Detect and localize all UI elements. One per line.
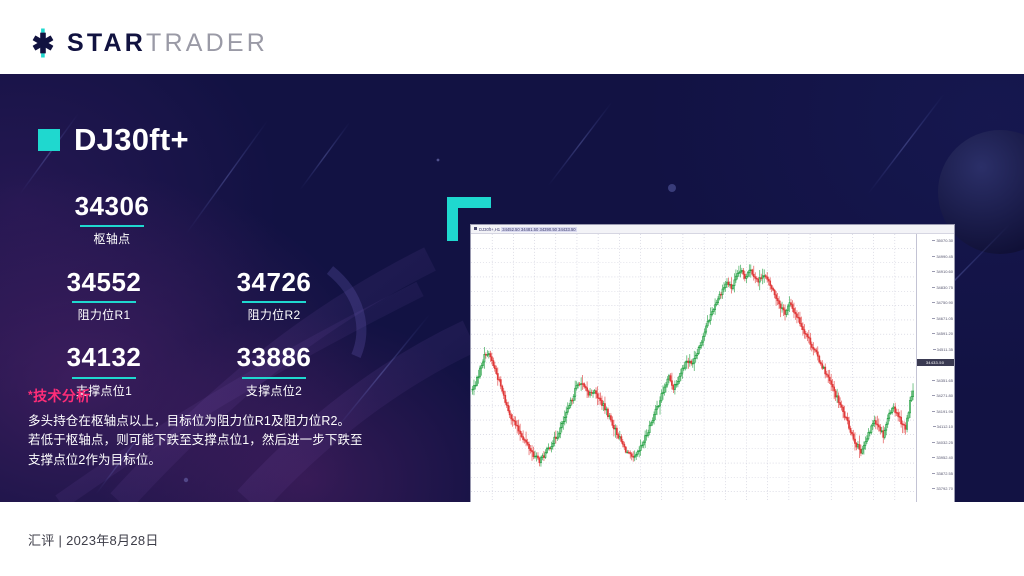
brand-name-light: TRADER [146,29,268,57]
level-r2-value: 34726 [237,269,312,299]
brand-name-bold: STAR [67,29,146,57]
price-tick: 33792.70 [936,486,953,491]
level-r1-label: 阻力位R1 [38,308,170,322]
price-tick: 34750.90 [936,300,953,305]
footer-caption: 汇评 | 2023年8月28日 [28,530,159,549]
main-stage: DJ30ft+ 34306 枢轴点 34552 阻力位R1 34726 [0,74,1024,502]
analysis-line-1: 多头持仓在枢轴点以上，目标位为阻力位R1及阻力位R2。 [28,412,428,431]
instrument-info: DJ30ft+ 34306 枢轴点 34552 阻力位R1 34726 [38,124,418,398]
level-r2: 34726 阻力位R2 [208,269,340,323]
chart-window-icon [474,227,477,230]
current-price-label: 34433.50 [916,359,954,366]
price-tick: 33872.55 [936,471,953,476]
price-tick: 34671.05 [936,316,953,321]
price-tick: 34271.80 [936,393,953,398]
candlestick-plot[interactable] [471,234,916,502]
price-tick: 34910.60 [936,269,953,274]
instrument-title-row: DJ30ft+ [38,124,418,155]
price-tick: 33952.40 [936,455,953,460]
level-underline [72,377,136,379]
title-bullet-square-icon [38,129,60,151]
bracket-horizontal-bar [447,197,491,208]
analysis-body: 多头持仓在枢轴点以上，目标位为阻力位R1及阻力位R2。 若低于枢轴点，则可能下跌… [28,412,428,470]
price-tick: 34351.65 [936,378,953,383]
chart-ohlc-label: 34452.50 34481.50 34390.50 34433.50 [501,227,576,232]
brand-logo: STARTRADER [28,28,268,58]
price-tick: 34591.20 [936,331,953,336]
chart-symbol-label: DJ30ft+,H1 [479,227,500,232]
level-s1-value: 34132 [67,344,142,374]
level-r1: 34552 阻力位R1 [38,269,170,323]
page-footer: 汇评 | 2023年8月28日 [0,502,1024,576]
pivot-row: 34306 枢轴点 [38,193,418,247]
price-tick: 34032.25 [936,440,953,445]
analysis-line-2: 若低于枢轴点，则可能下跌至支撑点位1，然后进一步下跌至 [28,431,428,450]
level-r2-label: 阻力位R2 [208,308,340,322]
page-title: DJ30ft+ [74,124,189,155]
price-tick: 34112.10 [937,424,953,429]
chart-window-titlebar: DJ30ft+,H1 34452.50 34481.50 34390.50 34… [471,225,954,234]
star-asterisk-icon [28,28,58,58]
level-pivot: 34306 枢轴点 [46,193,178,247]
analysis-heading: *技术分析 [28,386,428,406]
candlestick-svg [471,234,916,502]
price-tick: 34990.45 [936,254,953,259]
pivot-levels: 34306 枢轴点 34552 阻力位R1 34726 阻力位R2 [38,193,418,398]
level-underline [80,225,144,227]
brand-wordmark: STARTRADER [67,28,268,58]
level-pivot-value: 34306 [75,193,150,223]
price-tick: 34511.35 [937,347,953,352]
level-r1-value: 34552 [67,269,142,299]
price-tick: 34830.75 [936,285,953,290]
price-axis: 35070.3034990.4534910.6034830.7534750.90… [916,234,954,502]
price-tick: 35070.30 [936,238,953,243]
level-underline [72,301,136,303]
level-pivot-label: 枢轴点 [46,232,178,246]
analysis-line-3: 支撑点位2作为目标位。 [28,451,428,470]
level-underline [242,301,306,303]
resistance-row: 34552 阻力位R1 34726 阻力位R2 [38,269,418,323]
price-tick: 34191.95 [936,409,953,414]
page-header: STARTRADER [0,0,1024,74]
analysis-heading-text: 技术分析 [33,388,91,404]
level-s2-value: 33886 [237,344,312,374]
technical-analysis-block: *技术分析 多头持仓在枢轴点以上，目标位为阻力位R1及阻力位R2。 若低于枢轴点… [28,386,428,470]
level-underline [242,377,306,379]
chart-window[interactable]: DJ30ft+,H1 34452.50 34481.50 34390.50 34… [470,224,955,502]
